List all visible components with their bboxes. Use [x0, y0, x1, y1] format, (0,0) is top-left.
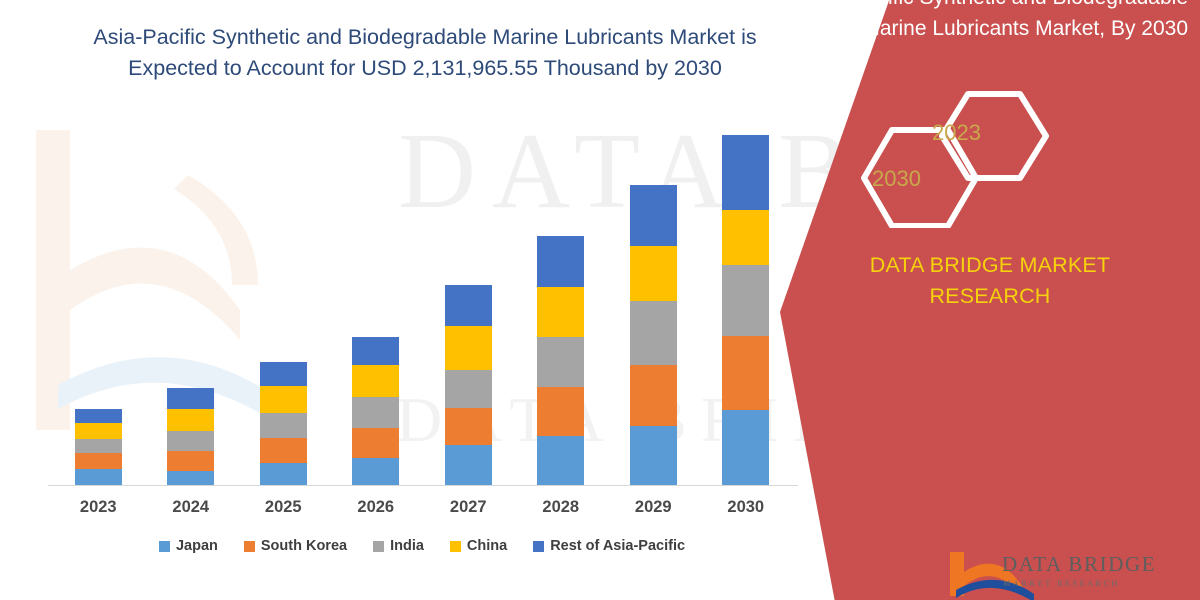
bar-segment-india[interactable]: [722, 265, 769, 336]
legend-item-china[interactable]: China: [450, 538, 507, 554]
bar-segment-rest-of-asia-pacific[interactable]: [630, 185, 677, 246]
bar-segment-rest-of-asia-pacific[interactable]: [722, 135, 769, 210]
hex-badge-2023: 2023: [932, 120, 981, 146]
bar-segment-india[interactable]: [167, 431, 214, 451]
bar-column-2026: [331, 110, 421, 486]
x-tick-label-2024: 2024: [146, 498, 236, 517]
x-tick-label-2023: 2023: [53, 498, 143, 517]
stacked-bar[interactable]: [167, 388, 214, 486]
bar-segment-rest-of-asia-pacific[interactable]: [260, 362, 307, 386]
bar-column-2027: [423, 110, 513, 486]
bar-column-2023: [53, 110, 143, 486]
bar-column-2028: [516, 110, 606, 486]
legend-swatch-icon: [450, 541, 461, 552]
stacked-bar[interactable]: [630, 185, 677, 486]
hexagon-badges: [840, 88, 1080, 228]
stacked-bar[interactable]: [260, 362, 307, 486]
bar-column-2029: [608, 110, 698, 486]
hex-badge-2030: 2030: [872, 166, 921, 192]
legend-swatch-icon: [159, 541, 170, 552]
bar-segment-rest-of-asia-pacific[interactable]: [537, 236, 584, 287]
chart-title: Asia-Pacific Synthetic and Biodegradable…: [60, 22, 790, 84]
bar-segment-china[interactable]: [537, 287, 584, 337]
x-axis-labels: 20232024202520262027202820292030: [52, 498, 792, 517]
bar-segment-china[interactable]: [445, 326, 492, 370]
legend-item-south-korea[interactable]: South Korea: [244, 538, 347, 554]
x-tick-label-2027: 2027: [423, 498, 513, 517]
bar-segment-south-korea[interactable]: [75, 453, 122, 469]
x-tick-label-2026: 2026: [331, 498, 421, 517]
bar-segment-japan[interactable]: [445, 445, 492, 486]
bar-segment-rest-of-asia-pacific[interactable]: [352, 337, 399, 365]
legend-label: India: [390, 538, 424, 554]
bar-segment-india[interactable]: [352, 397, 399, 428]
bar-segment-south-korea[interactable]: [537, 387, 584, 436]
bar-segment-japan[interactable]: [352, 458, 399, 486]
bar-segment-south-korea[interactable]: [445, 408, 492, 445]
infographic-root: DATA BRIDGE DATA BRIDGE MARKET RESEARCH …: [0, 0, 1200, 600]
bar-segment-japan[interactable]: [260, 463, 307, 486]
x-tick-label-2025: 2025: [238, 498, 328, 517]
bar-segment-japan[interactable]: [537, 436, 584, 486]
x-axis-line: [48, 485, 798, 486]
stacked-bar[interactable]: [722, 135, 769, 486]
bar-segment-south-korea[interactable]: [630, 365, 677, 426]
bar-segment-china[interactable]: [352, 365, 399, 397]
legend-label: Japan: [176, 538, 218, 554]
chart-plot-area: [52, 110, 792, 486]
bar-column-2024: [146, 110, 236, 486]
legend-item-india[interactable]: India: [373, 538, 424, 554]
brand-name: DATA BRIDGE MARKET RESEARCH: [810, 250, 1170, 312]
bar-segment-rest-of-asia-pacific[interactable]: [75, 409, 122, 423]
stacked-bar-group: [52, 110, 792, 486]
bar-segment-japan[interactable]: [167, 471, 214, 486]
stacked-bar[interactable]: [352, 337, 399, 486]
right-red-panel: Asia-Pacific Synthetic and Biodegradable…: [780, 0, 1200, 600]
bar-segment-rest-of-asia-pacific[interactable]: [167, 388, 214, 409]
bar-segment-japan[interactable]: [630, 426, 677, 486]
bar-segment-south-korea[interactable]: [167, 451, 214, 471]
panel-title: Asia-Pacific Synthetic and Biodegradable…: [788, 0, 1188, 44]
bar-segment-china[interactable]: [260, 386, 307, 413]
bar-segment-south-korea[interactable]: [352, 428, 399, 458]
bar-segment-india[interactable]: [537, 337, 584, 387]
bar-segment-china[interactable]: [630, 246, 677, 301]
legend-label: China: [467, 538, 507, 554]
stacked-bar[interactable]: [75, 409, 122, 486]
bar-segment-japan[interactable]: [75, 469, 122, 486]
bar-segment-india[interactable]: [75, 439, 122, 453]
legend-label: South Korea: [261, 538, 347, 554]
stacked-bar[interactable]: [537, 236, 584, 486]
corner-logo-subtitle: MARKET RESEARCH: [1003, 578, 1120, 588]
bar-column-2025: [238, 110, 328, 486]
legend-label: Rest of Asia-Pacific: [550, 538, 685, 554]
bar-segment-china[interactable]: [167, 409, 214, 431]
stacked-bar[interactable]: [445, 285, 492, 486]
legend-swatch-icon: [533, 541, 544, 552]
legend-item-japan[interactable]: Japan: [159, 538, 218, 554]
chart-legend: JapanSouth KoreaIndiaChinaRest of Asia-P…: [52, 538, 792, 554]
bar-segment-south-korea[interactable]: [260, 438, 307, 463]
x-tick-label-2028: 2028: [516, 498, 606, 517]
bar-segment-japan[interactable]: [722, 410, 769, 486]
bar-segment-india[interactable]: [260, 413, 307, 438]
legend-item-rest-of-asia-pacific[interactable]: Rest of Asia-Pacific: [533, 538, 685, 554]
legend-swatch-icon: [373, 541, 384, 552]
bar-segment-china[interactable]: [722, 210, 769, 265]
x-tick-label-2029: 2029: [608, 498, 698, 517]
bar-segment-china[interactable]: [75, 423, 122, 439]
bar-segment-india[interactable]: [630, 301, 677, 365]
bar-segment-rest-of-asia-pacific[interactable]: [445, 285, 492, 326]
bar-column-2030: [701, 110, 791, 486]
corner-logo-title: DATA BRIDGE: [1002, 552, 1156, 577]
corner-logo: DATA BRIDGE MARKET RESEARCH: [940, 548, 1200, 600]
bar-segment-south-korea[interactable]: [722, 336, 769, 410]
legend-swatch-icon: [244, 541, 255, 552]
bar-segment-india[interactable]: [445, 370, 492, 408]
x-tick-label-2030: 2030: [701, 498, 791, 517]
